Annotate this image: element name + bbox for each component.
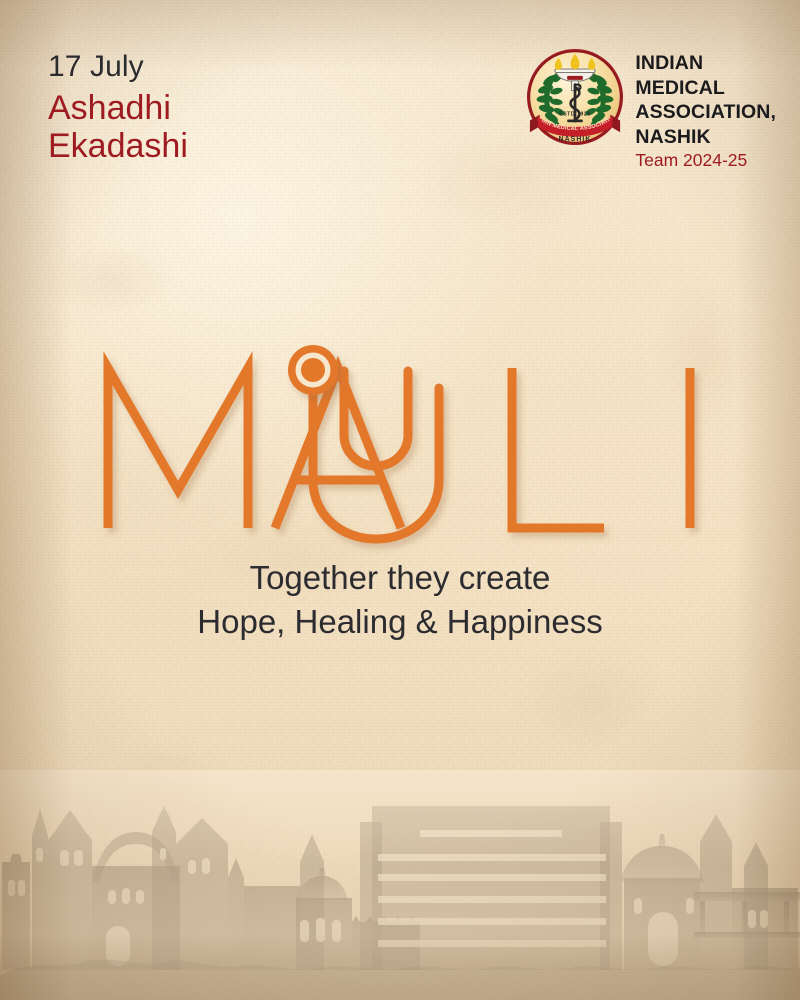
festival-name-line-2: Ekadashi — [48, 127, 188, 165]
tagline-line-2: Hope, Healing & Happiness — [0, 600, 800, 644]
date-block: 17 July Ashadhi Ekadashi — [48, 52, 188, 165]
mauli-wordmark — [0, 340, 800, 560]
emblem-estd-text: ESTD 1928 — [560, 112, 592, 118]
ima-caduceus-lamp-emblem: ESTD 1928 INDIAN MEDICAL ASSOCIATION NAS… — [526, 48, 624, 146]
tagline: Together they create Hope, Healing & Hap… — [0, 556, 800, 644]
emblem-city-text: NASHIK — [559, 136, 592, 143]
ima-name-block: INDIAN MEDICAL ASSOCIATION, NASHIK Team … — [635, 48, 776, 170]
ima-name-line-2: MEDICAL — [635, 79, 776, 99]
wordmark-letter-a — [275, 368, 401, 528]
ima-name-line-4: NASHIK — [635, 128, 776, 148]
ima-name-line-3: ASSOCIATION, — [635, 103, 776, 123]
festival-name: Ashadhi Ekadashi — [48, 89, 188, 165]
ima-team-label: Team 2024-25 — [635, 152, 776, 170]
wordmark-letter-l — [512, 368, 604, 528]
poster-canvas: 17 July Ashadhi Ekadashi — [0, 0, 800, 1000]
ima-name-line-1: INDIAN — [635, 54, 776, 74]
tagline-line-1: Together they create — [0, 556, 800, 600]
wordmark-letter-m — [108, 368, 248, 528]
festival-name-line-1: Ashadhi — [48, 89, 188, 127]
ima-logo-lockup: ESTD 1928 INDIAN MEDICAL ASSOCIATION NAS… — [526, 48, 776, 170]
stethoscope-chestpiece-icon — [288, 345, 338, 395]
date-day-label: 17 July — [48, 52, 188, 82]
